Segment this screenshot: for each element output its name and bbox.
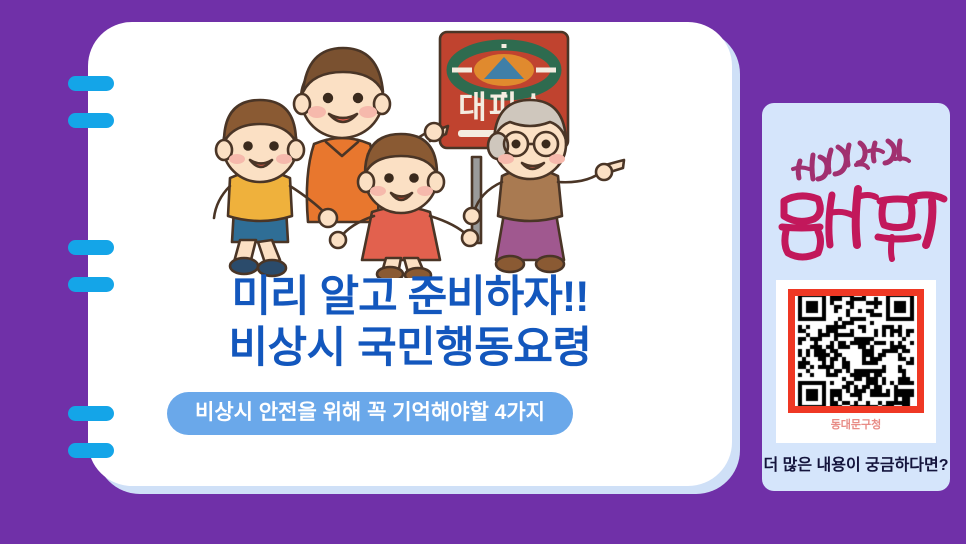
qr-code-card: 동대문구청: [776, 280, 936, 443]
binding-ring: [68, 443, 114, 458]
qr-caption: 동대문구청: [776, 416, 936, 432]
page-title: 미리 알고 준비하자!! 비상시 국민행동요령: [88, 272, 732, 374]
binding-ring: [68, 406, 114, 421]
qr-code[interactable]: [788, 289, 924, 413]
panel-caption: 더 많은 내용이 궁금하다면?: [762, 451, 950, 475]
poster-canvas: .ol { stroke:#4a3526; stroke-width:2.6; …: [0, 0, 966, 544]
headline-line-2: 비상시 국민행동요령: [88, 323, 732, 374]
binding-ring: [68, 240, 114, 255]
binding-ring: [68, 113, 114, 128]
dongdaemun-gu-logo: [762, 109, 950, 269]
subtitle-pill: 비상시 안전을 위해 꼭 기억해야할 4가지: [167, 392, 573, 435]
family-evacuation-illustration: .ol { stroke:#4a3526; stroke-width:2.6; …: [210, 26, 630, 278]
headline-line-1: 미리 알고 준비하자!!: [88, 272, 732, 323]
binding-ring: [68, 76, 114, 91]
side-panel: 동대문구청 더 많은 내용이 궁금하다면?: [762, 103, 950, 491]
